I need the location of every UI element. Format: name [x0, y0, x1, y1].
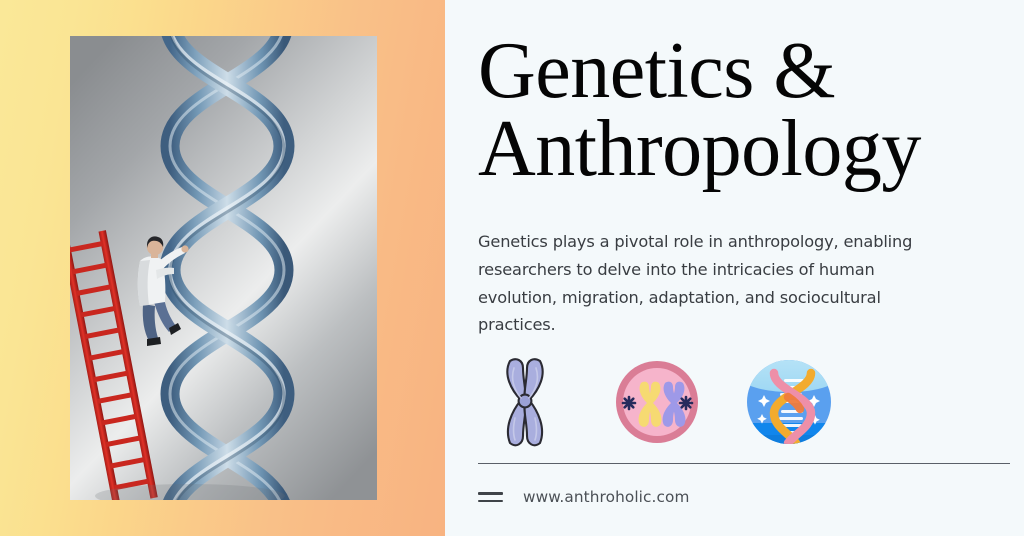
- dna-circle-icon: [742, 355, 836, 449]
- page-title-line-1: Genetics &: [478, 32, 1008, 110]
- page-title: Genetics & Anthropology: [478, 32, 1008, 189]
- menu-bar-2: [478, 500, 503, 502]
- photo-artwork: [70, 36, 377, 500]
- chromosome-icon: [478, 355, 572, 449]
- menu-bar-1: [478, 492, 503, 494]
- poster-canvas: Genetics & Anthropology Genetics plays a…: [0, 0, 1024, 536]
- description-paragraph: Genetics plays a pivotal role in anthrop…: [478, 228, 930, 339]
- page-title-line-2: Anthropology: [478, 110, 1008, 188]
- dna-helix-ladder-photo: [70, 36, 377, 500]
- footer-divider: [478, 463, 1010, 464]
- footer: www.anthroholic.com: [478, 488, 689, 506]
- site-url[interactable]: www.anthroholic.com: [523, 488, 689, 506]
- left-gradient-panel: [0, 0, 445, 536]
- cell-division-icon: [610, 355, 704, 449]
- content-panel: Genetics & Anthropology Genetics plays a…: [445, 0, 1024, 536]
- hamburger-menu-icon[interactable]: [478, 490, 503, 504]
- icon-row: [478, 355, 838, 449]
